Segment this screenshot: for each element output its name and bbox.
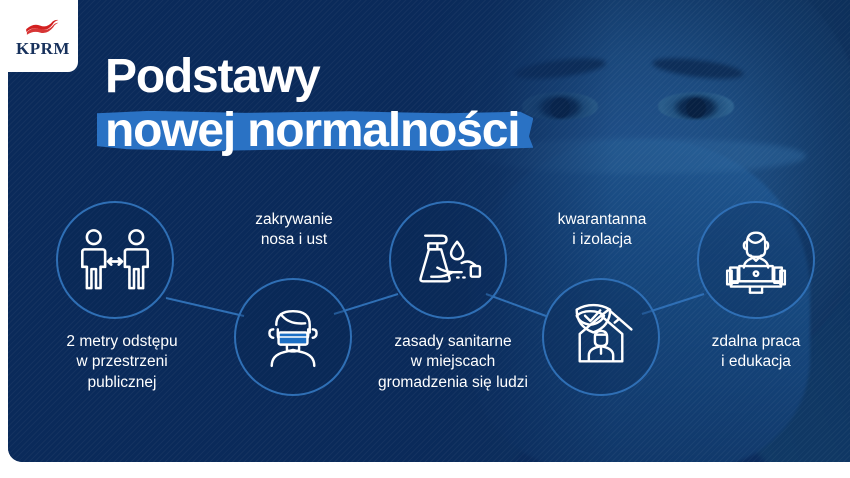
kprm-logo[interactable]: KPRM	[8, 0, 78, 72]
polish-flag-icon	[22, 16, 64, 38]
soap-dispenser-hands-icon	[410, 222, 486, 298]
node-distance[interactable]	[56, 201, 174, 319]
node-face-covering[interactable]	[234, 278, 352, 396]
person-laptop-sofa-icon	[718, 222, 794, 298]
caption-face-covering: zakrywanie nosa i ust	[208, 210, 380, 251]
caption-distance: 2 metry odstępu w przestrzeni publicznej	[22, 332, 222, 393]
node-sanitary-rules[interactable]	[389, 201, 507, 319]
caption-remote-work: zdalna praca i edukacja	[676, 332, 836, 373]
person-with-mask-icon	[255, 299, 331, 375]
headline-line-2-wrap: nowej normalności	[105, 106, 519, 156]
infographic-poster: 2 metry odstępu w przestrzeni publicznej…	[0, 0, 850, 478]
caption-sanitary-rules: zasady sanitarne w miejscach gromadzenia…	[338, 332, 568, 393]
headline-line-1: Podstawy	[105, 52, 519, 102]
caption-quarantine: kwarantanna i izolacja	[516, 210, 688, 251]
house-shield-person-icon	[563, 299, 639, 375]
two-people-distance-icon	[77, 222, 153, 298]
poster-card: 2 metry odstępu w przestrzeni publicznej…	[8, 0, 850, 462]
headline-line-2: nowej normalności	[105, 106, 519, 156]
headline: Podstawy nowej normalności	[105, 52, 519, 156]
kprm-logo-text: KPRM	[16, 40, 70, 57]
node-remote-work[interactable]	[697, 201, 815, 319]
